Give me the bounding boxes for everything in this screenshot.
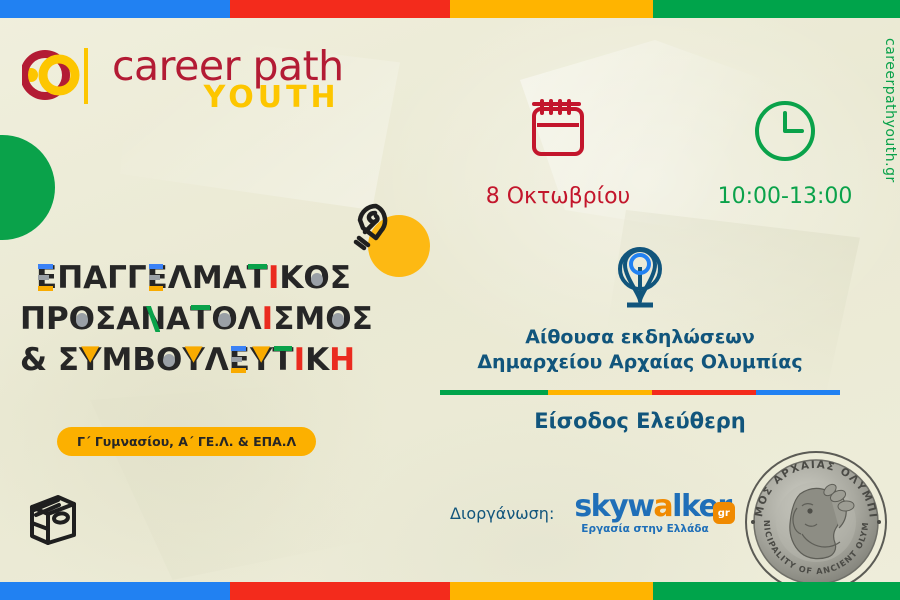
lightbulb-icon — [345, 198, 397, 258]
location-line-1: Αίθουσα εκδηλώσεων — [420, 325, 860, 350]
letter-Y: Υ — [182, 344, 204, 377]
letter-Y: Υ — [79, 344, 101, 377]
letter-N: Ν — [140, 303, 166, 336]
letter-E: Ε — [147, 262, 168, 295]
letter-T: Τ — [190, 303, 211, 336]
bottom-color-bar — [0, 582, 900, 600]
skywalker-text-part2: a — [653, 489, 672, 524]
municipality-seal: ΔΗΜΟΣ ΑΡΧΑΙΑΣ ΟΛΥΜΠΙΑΣ MUNICIPALITY OF A… — [742, 448, 890, 596]
divider-segment-green — [440, 390, 548, 395]
letter-O: Ο — [325, 303, 351, 336]
career-path-logo-mark — [22, 40, 106, 110]
letter-I: Ι — [262, 301, 274, 337]
color-bar-segment-yellow — [450, 0, 653, 18]
divider-segment-blue — [756, 390, 840, 395]
career-path-youth-logo: career path YOUTH — [22, 40, 344, 113]
color-bar-segment-yellow — [450, 582, 653, 600]
top-color-bar — [0, 0, 900, 18]
event-location-block: Αίθουσα εκδηλώσεων Δημαρχείου Αρχαίας Ολ… — [420, 243, 860, 433]
color-bar-segment-red — [230, 582, 451, 600]
calendar-icon — [523, 98, 593, 166]
skywalker-logo: skywalker Εργασία στην Ελλάδα gr — [574, 492, 730, 535]
headline-line-3: & ΣΥΜΒΟΥΛΕΥΤΙΚΗ — [20, 344, 420, 377]
color-bar-segment-blue — [0, 0, 230, 18]
clock-icon — [750, 98, 820, 166]
color-divider — [440, 390, 840, 395]
organiser-label: Διοργάνωση: — [450, 504, 554, 523]
letter-T: Τ — [272, 344, 293, 377]
divider-segment-red — [652, 390, 756, 395]
map-pin-icon — [611, 243, 669, 311]
event-date-block: 8 Οκτωβρίου — [468, 98, 648, 209]
color-bar-segment-green — [653, 582, 900, 600]
letter-O: Ο — [211, 303, 237, 336]
letter-O: Ο — [156, 344, 182, 377]
letter-Y: Υ — [250, 344, 272, 377]
color-bar-segment-red — [230, 0, 451, 18]
letter-I: Ι — [268, 260, 280, 296]
green-circle-shape — [0, 135, 55, 240]
letter-I: Ι — [294, 342, 306, 378]
letter-T: Τ — [247, 262, 268, 295]
letter-E: Ε — [229, 344, 250, 377]
book-icon — [22, 487, 84, 553]
website-url: careerpathyouth.gr — [882, 38, 898, 183]
headline-block: ΕΠΑΓΓΕΛΜΑΤΙΚΟΣ ΠΡΟΣΑΝΑΤΟΛΙΣΜΟΣ & ΣΥΜΒΟΥΛ… — [20, 262, 420, 377]
logo-wordmark: career path YOUTH — [112, 40, 344, 113]
letter-E: Ε — [36, 262, 57, 295]
headline-line-1: ΕΠΑΓΓΕΛΜΑΤΙΚΟΣ — [36, 262, 420, 295]
color-bar-segment-blue — [0, 582, 230, 600]
organiser-block: Διοργάνωση: skywalker Εργασία στην Ελλάδ… — [450, 492, 731, 535]
paper-texture-facet — [90, 380, 420, 580]
divider-segment-yellow — [548, 390, 652, 395]
headline-line-2: ΠΡΟΣΑΝΑΤΟΛΙΣΜΟΣ — [20, 303, 420, 336]
color-bar-segment-green — [653, 0, 900, 18]
letter-H: Η — [329, 342, 355, 378]
event-poster: career path YOUTH ΕΠΑΓΓΕΛΜΑΤΙΚΟΣ ΠΡΟΣΑΝΑ… — [0, 0, 900, 600]
audience-badge: Γ΄ Γυμνασίου, Α΄ ΓΕ.Λ. & ΕΠΑ.Λ — [57, 427, 316, 456]
skywalker-text-part1: skyw — [574, 489, 653, 524]
letter-O: Ο — [303, 262, 329, 295]
location-line-2: Δημαρχείου Αρχαίας Ολυμπίας — [420, 350, 860, 375]
letter-O: Ο — [69, 303, 95, 336]
skywalker-tagline: Εργασία στην Ελλάδα — [574, 523, 708, 535]
event-date-text: 8 Οκτωβρίου — [468, 184, 648, 209]
event-time-block: 10:00-13:00 — [690, 98, 880, 209]
event-time-text: 10:00-13:00 — [690, 184, 880, 209]
skywalker-gr-badge: gr — [713, 502, 735, 524]
free-entry-text: Είσοδος Ελεύθερη — [420, 409, 860, 433]
